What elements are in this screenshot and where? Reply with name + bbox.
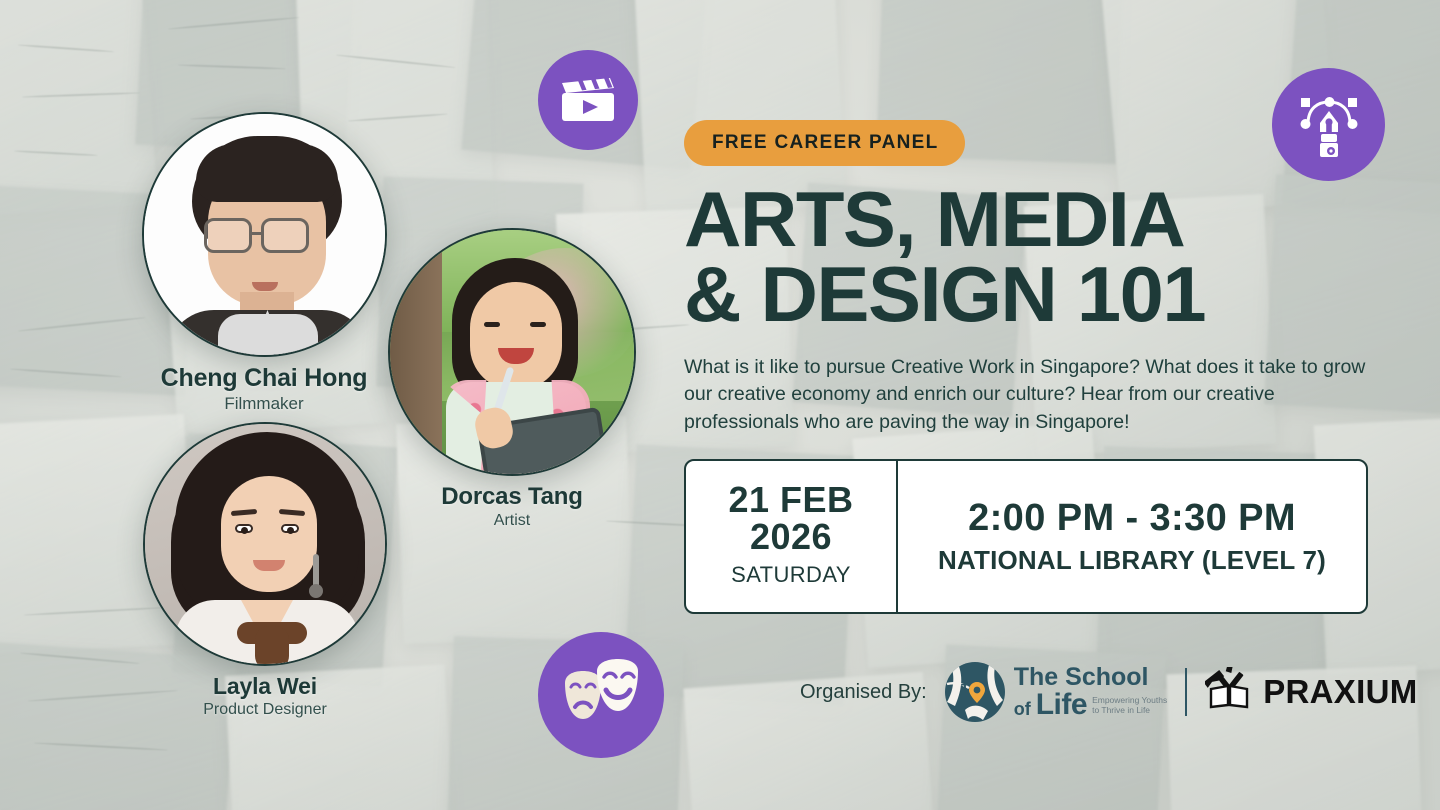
tsol-tagline: Empowering Youths to Thrive in Life [1092,696,1167,719]
event-year: 2026 [750,518,832,555]
praxium-book-tools-icon [1205,667,1253,718]
speaker-role: Product Designer [143,700,387,719]
main-content: FREE CAREER PANEL ARTS, MEDIA & DESIGN 1… [684,120,1374,614]
event-date: 21 FEB [728,481,853,518]
logo-the-school-of-life: TS L The School of Life Empowering Youth… [945,662,1167,722]
page-title: ARTS, MEDIA & DESIGN 101 [684,182,1388,332]
event-date-cell: 21 FEB 2026 SATURDAY [686,461,898,612]
headline-line-2: & DESIGN 101 [684,257,1388,332]
event-time: 2:00 PM - 3:30 PM [968,497,1296,540]
school-of-life-mark-icon: TS L [945,662,1005,722]
tsol-word-life: Life [1036,690,1087,719]
free-career-panel-badge: FREE CAREER PANEL [684,120,965,166]
event-poster: Cheng Chai Hong Filmmaker Dorcas Tang Ar… [0,0,1440,810]
organisers-footer: Organised By: TS L The School [800,662,1418,722]
tsol-tagline-line-2: to Thrive in Life [1092,705,1150,715]
praxium-wordmark: PRAXIUM [1263,673,1417,711]
logo-praxium: PRAXIUM [1205,667,1417,718]
event-weekday: SATURDAY [731,562,851,588]
speaker-photo-dorcas-tang [388,228,636,476]
speaker-card-layla-wei: Layla Wei Product Designer [143,422,387,719]
theatre-masks-icon [538,632,664,758]
event-location: NATIONAL LIBRARY (LEVEL 7) [938,545,1326,576]
speaker-card-dorcas-tang: Dorcas Tang Artist [388,228,636,530]
speaker-role: Artist [388,511,636,530]
tsol-word-of: of [1014,701,1031,718]
clapperboard-icon [538,50,638,150]
school-of-life-wordmark: The School of Life Empowering Youths to … [1014,665,1167,718]
event-time-cell: 2:00 PM - 3:30 PM NATIONAL LIBRARY (LEVE… [898,461,1366,612]
speaker-name: Layla Wei [143,674,387,698]
organised-by-label: Organised By: [800,681,927,704]
speaker-name: Dorcas Tang [388,484,636,509]
event-description: What is it like to pursue Creative Work … [684,354,1374,437]
speaker-photo-layla-wei [143,422,387,666]
tsol-tagline-line-1: Empowering Youths [1092,695,1167,705]
speaker-photo-cheng-chai-hong [142,112,387,357]
event-details-card: 21 FEB 2026 SATURDAY 2:00 PM - 3:30 PM N… [684,459,1368,614]
footer-divider [1185,668,1187,716]
